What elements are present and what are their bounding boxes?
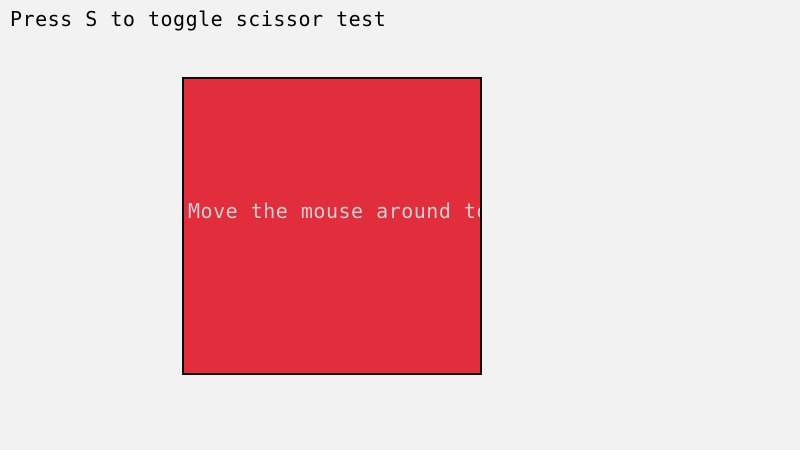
scissor-clipped-text: Move the mouse around to reveal this tex…	[188, 200, 482, 222]
scissor-rectangle[interactable]: Move the mouse around to reveal this tex…	[182, 77, 482, 375]
app-canvas: Press S to toggle scissor test Move the …	[0, 0, 800, 450]
instruction-text: Press S to toggle scissor test	[10, 8, 386, 30]
